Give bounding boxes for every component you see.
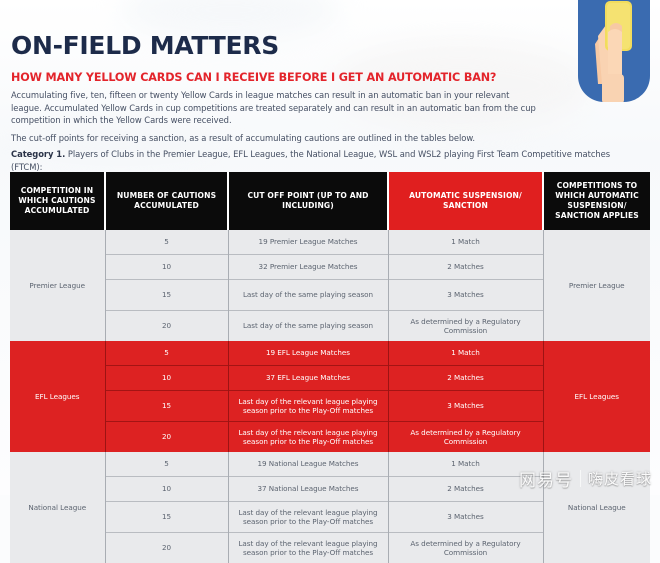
table-row: Premier League 5 19 Premier League Match… xyxy=(10,230,650,255)
cell-cut-off: Last day of the relevant league playing … xyxy=(228,391,388,422)
group-applies-label: National League xyxy=(543,452,650,563)
section-subtitle: HOW MANY YELLOW CARDS CAN I RECEIVE BEFO… xyxy=(11,71,496,84)
cell-cut-off: 19 EFL League Matches xyxy=(228,341,388,366)
category-text: Players of Clubs in the Premier League, … xyxy=(11,149,610,172)
cell-cautions: 10 xyxy=(105,366,228,391)
cell-cautions: 15 xyxy=(105,502,228,533)
table-group-premier-league: Premier League 5 19 Premier League Match… xyxy=(10,230,650,341)
table-group-efl-leagues: EFL Leagues 5 19 EFL League Matches 1 Ma… xyxy=(10,341,650,452)
cell-sanction: 3 Matches xyxy=(388,280,543,311)
cell-cautions: 10 xyxy=(105,477,228,502)
cell-cautions: 15 xyxy=(105,391,228,422)
group-applies-label: Premier League xyxy=(543,230,650,341)
cell-sanction: 3 Matches xyxy=(388,502,543,533)
cautions-table: COMPETITION IN WHICH CAUTIONS ACCUMULATE… xyxy=(10,172,650,563)
cell-cautions: 10 xyxy=(105,255,228,280)
cell-cut-off: Last day of the relevant league playing … xyxy=(228,533,388,563)
group-applies-label: EFL Leagues xyxy=(543,341,650,452)
cell-cautions: 5 xyxy=(105,452,228,477)
cell-sanction: As determined by a Regulatory Commission xyxy=(388,422,543,453)
cell-sanction: 2 Matches xyxy=(388,366,543,391)
cell-sanction: As determined by a Regulatory Commission xyxy=(388,311,543,342)
cell-cut-off: Last day of the relevant league playing … xyxy=(228,502,388,533)
document-page: ON-FIELD MATTERS HOW MANY YELLOW CARDS C… xyxy=(0,0,660,495)
cell-cut-off: 19 National League Matches xyxy=(228,452,388,477)
cell-cautions: 20 xyxy=(105,422,228,453)
group-competition-label: National League xyxy=(10,452,105,563)
cell-sanction: 2 Matches xyxy=(388,477,543,502)
group-competition-label: Premier League xyxy=(10,230,105,341)
category-label: Category 1. xyxy=(11,149,65,159)
header-cut-off-point: CUT OFF POINT (UP TO AND INCLUDING) xyxy=(228,172,388,230)
cell-cut-off: 37 National League Matches xyxy=(228,477,388,502)
cell-sanction: 2 Matches xyxy=(388,255,543,280)
page-title: ON-FIELD MATTERS xyxy=(11,31,279,60)
cell-sanction: 1 Match xyxy=(388,230,543,255)
table-group-national-league: National League 5 19 National League Mat… xyxy=(10,452,650,563)
cell-cautions: 5 xyxy=(105,230,228,255)
table-header-row: COMPETITION IN WHICH CAUTIONS ACCUMULATE… xyxy=(10,172,650,230)
cell-cautions: 15 xyxy=(105,280,228,311)
cell-cut-off: Last day of the same playing season xyxy=(228,280,388,311)
cell-cut-off: 32 Premier League Matches xyxy=(228,255,388,280)
header-automatic-suspension: AUTOMATIC SUSPENSION/ SANCTION xyxy=(388,172,543,230)
cell-sanction: As determined by a Regulatory Commission xyxy=(388,533,543,563)
cell-cut-off: 19 Premier League Matches xyxy=(228,230,388,255)
header-competitions-applies: COMPETITIONS TO WHICH AUTOMATIC SUSPENSI… xyxy=(543,172,650,230)
cell-cautions: 20 xyxy=(105,311,228,342)
cell-cut-off: 37 EFL League Matches xyxy=(228,366,388,391)
table-row: National League 5 19 National League Mat… xyxy=(10,452,650,477)
hand-holding-yellow-card-icon xyxy=(578,0,650,102)
header-competition-accumulated: COMPETITION IN WHICH CAUTIONS ACCUMULATE… xyxy=(10,172,105,230)
intro-paragraph-1: Accumulating five, ten, fifteen or twent… xyxy=(11,89,541,127)
yellow-card-badge xyxy=(578,0,650,102)
intro-paragraph-2: The cut-off points for receiving a sanct… xyxy=(11,132,541,145)
cell-cut-off: Last day of the same playing season xyxy=(228,311,388,342)
category-line: Category 1. Players of Clubs in the Prem… xyxy=(11,148,631,173)
cell-sanction: 1 Match xyxy=(388,452,543,477)
cell-cautions: 20 xyxy=(105,533,228,563)
cell-cut-off: Last day of the relevant league playing … xyxy=(228,422,388,453)
group-competition-label: EFL Leagues xyxy=(10,341,105,452)
table-row: EFL Leagues 5 19 EFL League Matches 1 Ma… xyxy=(10,341,650,366)
header-number-of-cautions: NUMBER OF CAUTIONS ACCUMULATED xyxy=(105,172,228,230)
cell-sanction: 1 Match xyxy=(388,341,543,366)
cell-cautions: 5 xyxy=(105,341,228,366)
cell-sanction: 3 Matches xyxy=(388,391,543,422)
